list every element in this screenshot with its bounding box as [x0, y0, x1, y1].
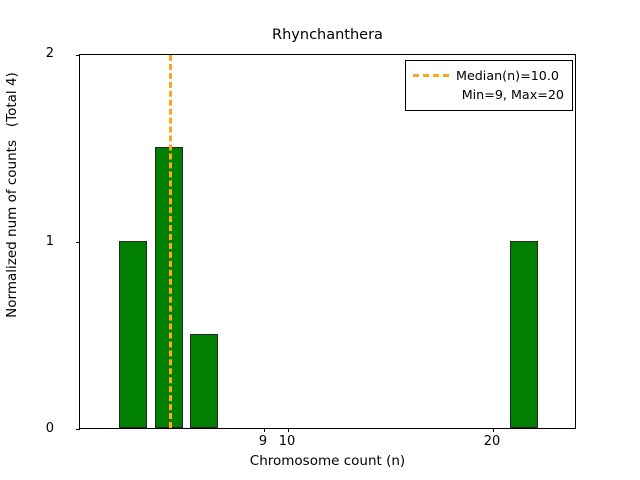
- x-axis-tick-label-20: 20: [462, 435, 522, 449]
- y-axis-tick-mark-0: [76, 429, 80, 430]
- bar-11: [190, 334, 218, 428]
- y-axis-tick-mark-1: [76, 242, 80, 243]
- y-axis-tick-label-0: 0: [46, 422, 54, 435]
- y-axis-tick-label-2: 2: [46, 47, 54, 60]
- legend-entry-minmax: Min=9, Max=20: [413, 85, 565, 104]
- x-axis-tick-label-10: 10: [257, 435, 317, 449]
- y-axis-title: Normalized num of counts (Total 4): [4, 0, 20, 400]
- legend-entry-median: Median(n)=10.0: [413, 66, 565, 85]
- y-axis-tick-label-1: 1: [46, 235, 54, 248]
- legend-label-median: Median(n)=10.0: [456, 68, 559, 84]
- x-axis-tick-mark-20: [493, 428, 494, 432]
- y-axis-tick-mark-2: [76, 55, 80, 56]
- page-title: Rhynchanthera: [79, 26, 576, 44]
- x-axis-tick-mark-10: [288, 428, 289, 432]
- legend: Median(n)=10.0 Min=9, Max=20: [405, 60, 573, 111]
- bar-9: [119, 241, 147, 429]
- legend-label-minmax: Min=9, Max=20: [462, 87, 564, 103]
- chart-figure: Rhynchanthera 2 1 0 Normalized num of co…: [0, 0, 640, 480]
- median-line: [169, 55, 172, 428]
- x-axis-title: Chromosome count (n): [79, 453, 576, 469]
- bar-20: [510, 241, 538, 429]
- x-axis-tick-mark-9: [264, 428, 265, 432]
- dashed-line-icon: [413, 69, 449, 83]
